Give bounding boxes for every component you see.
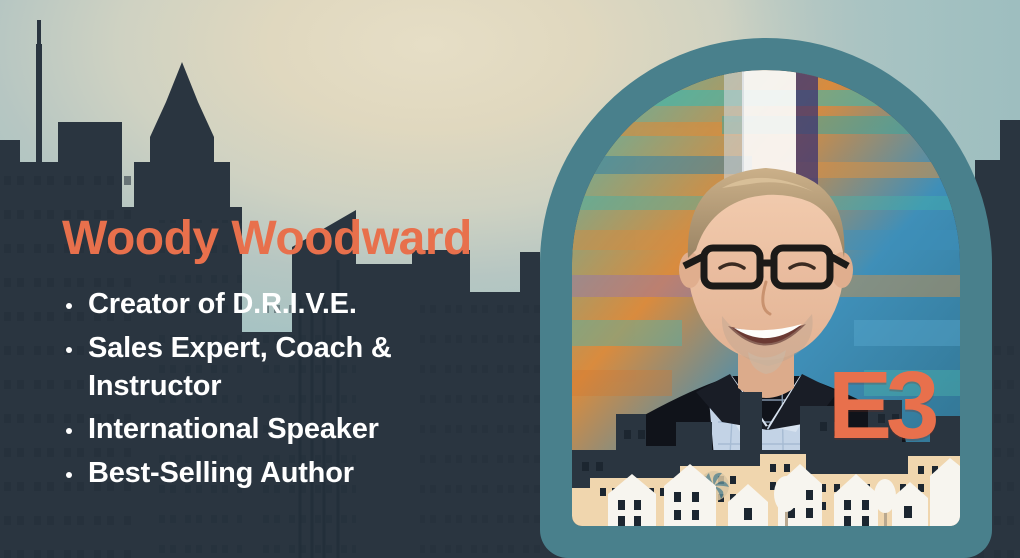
portrait-arch-frame	[540, 38, 992, 558]
list-item: Best-Selling Author	[62, 455, 532, 493]
e3-logo: E3	[828, 358, 933, 454]
speaker-info-block: Woody Woodward Creator of D.R.I.V.E. Sal…	[62, 214, 532, 499]
list-item: Sales Expert, Coach & Instructor	[62, 330, 532, 405]
credentials-list: Creator of D.R.I.V.E. Sales Expert, Coac…	[62, 286, 532, 492]
list-item: Creator of D.R.I.V.E.	[62, 286, 532, 324]
page-title: Woody Woodward	[62, 214, 532, 264]
list-item: International Speaker	[62, 411, 532, 449]
speaker-promo-banner: Woody Woodward Creator of D.R.I.V.E. Sal…	[0, 0, 1020, 558]
